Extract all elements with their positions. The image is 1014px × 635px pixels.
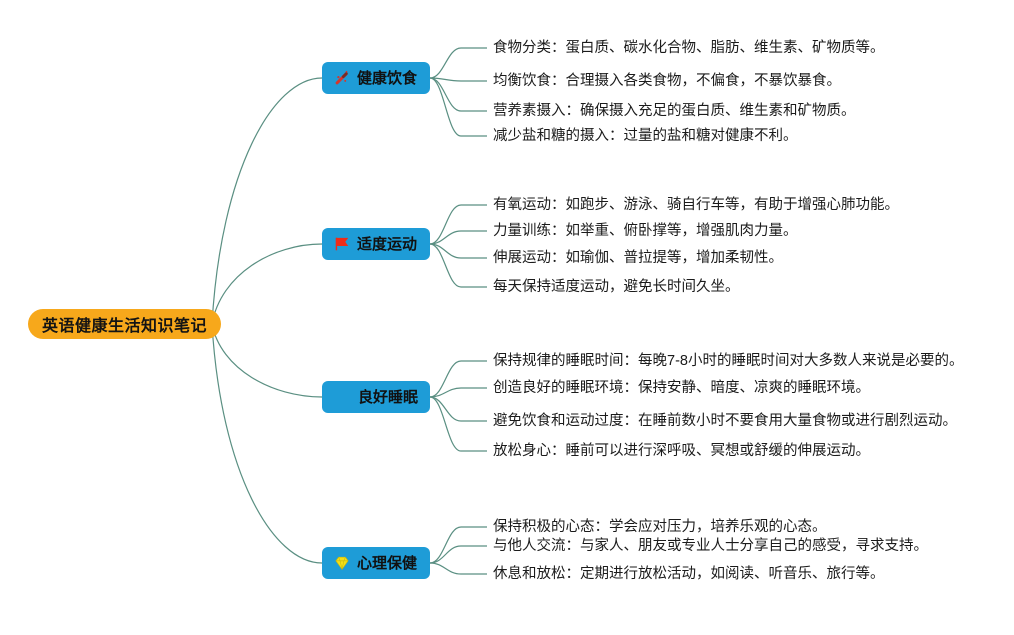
red-flag-icon (332, 234, 352, 254)
branch-node-label: 心理保健 (357, 556, 417, 571)
magic-wand-icon (332, 68, 352, 88)
branch-to-leaf-connector (430, 244, 487, 287)
leaf-node[interactable]: 休息和放松：定期进行放松活动，如阅读、听音乐、旅行等。 (493, 567, 885, 582)
diamond-gem-icon (332, 553, 352, 573)
branch-to-leaf-connector (430, 48, 487, 78)
leaf-node-label: 保持规律的睡眠时间：每晚7-8小时的睡眠时间对大多数人来说是必要的。 (493, 353, 963, 369)
branch-node-label: 健康饮食 (357, 71, 417, 86)
leaf-node-label: 减少盐和糖的摄入：过量的盐和糖对健康不利。 (493, 128, 798, 144)
branch-to-leaf-connector (430, 397, 487, 421)
branch-to-leaf-connector (430, 205, 487, 244)
leaf-node[interactable]: 每天保持适度运动，避免长时间久坐。 (493, 280, 740, 295)
branch-to-leaf-connector (430, 231, 487, 244)
leaf-node-label: 力量训练：如举重、俯卧撑等，增强肌肉力量。 (493, 223, 798, 239)
leaf-node[interactable]: 伸展运动：如瑜伽、普拉提等，增加柔韧性。 (493, 251, 783, 266)
leaf-node-label: 避免饮食和运动过度：在睡前数小时不要食用大量食物或进行剧烈运动。 (493, 413, 957, 429)
branch-to-leaf-connector (430, 397, 487, 451)
leaf-node-label: 保持积极的心态：学会应对压力，培养乐观的心态。 (493, 519, 827, 535)
mindmap-canvas: 英语健康生活知识笔记 健康饮食 适度运动 良好睡眠 (0, 0, 1014, 635)
leaf-node[interactable]: 保持规律的睡眠时间：每晚7-8小时的睡眠时间对大多数人来说是必要的。 (493, 354, 963, 369)
root-to-branch-connector (212, 324, 322, 563)
leaf-node-label: 有氧运动：如跑步、游泳、骑自行车等，有助于增强心肺功能。 (493, 197, 899, 213)
branch-node-healthy-diet[interactable]: 健康饮食 (322, 62, 430, 94)
root-to-branch-connector (212, 324, 322, 397)
leaf-node-label: 每天保持适度运动，避免长时间久坐。 (493, 279, 740, 295)
branch-node-label: 良好睡眠 (358, 390, 418, 405)
leaf-node[interactable]: 保持积极的心态：学会应对压力，培养乐观的心态。 (493, 520, 827, 535)
leaf-node[interactable]: 均衡饮食：合理摄入各类食物，不偏食，不暴饮暴食。 (493, 74, 841, 89)
branch-to-leaf-connector (430, 563, 487, 574)
leaf-node-label: 创造良好的睡眠环境：保持安静、暗度、凉爽的睡眠环境。 (493, 380, 870, 396)
leaf-node[interactable]: 与他人交流：与家人、朋友或专业人士分享自己的感受，寻求支持。 (493, 539, 928, 554)
root-node-label: 英语健康生活知识笔记 (42, 312, 207, 336)
leaf-node[interactable]: 减少盐和糖的摄入：过量的盐和糖对健康不利。 (493, 129, 798, 144)
leaf-node-label: 营养素摄入：确保摄入充足的蛋白质、维生素和矿物质。 (493, 103, 856, 119)
leaf-node-label: 均衡饮食：合理摄入各类食物，不偏食，不暴饮暴食。 (493, 73, 841, 89)
branch-to-leaf-connector (430, 388, 487, 397)
leaf-node[interactable]: 创造良好的睡眠环境：保持安静、暗度、凉爽的睡眠环境。 (493, 381, 870, 396)
leaf-node-label: 食物分类：蛋白质、碳水化合物、脂肪、维生素、矿物质等。 (493, 40, 885, 56)
branch-to-leaf-connector (430, 78, 487, 111)
leaf-node[interactable]: 有氧运动：如跑步、游泳、骑自行车等，有助于增强心肺功能。 (493, 198, 899, 213)
branch-node-mental-health[interactable]: 心理保健 (322, 547, 430, 579)
leaf-node[interactable]: 避免饮食和运动过度：在睡前数小时不要食用大量食物或进行剧烈运动。 (493, 414, 957, 429)
branch-to-leaf-connector (430, 78, 487, 136)
branch-to-leaf-connector (430, 78, 487, 81)
branch-to-leaf-connector (430, 244, 487, 258)
leaf-node[interactable]: 放松身心：睡前可以进行深呼吸、冥想或舒缓的伸展运动。 (493, 444, 870, 459)
root-node[interactable]: 英语健康生活知识笔记 (28, 309, 221, 339)
leaf-node-label: 休息和放松：定期进行放松活动，如阅读、听音乐、旅行等。 (493, 566, 885, 582)
branch-node-good-sleep[interactable]: 良好睡眠 (322, 381, 430, 413)
root-to-branch-connector (212, 244, 322, 324)
branch-node-label: 适度运动 (357, 237, 417, 252)
leaf-node-label: 与他人交流：与家人、朋友或专业人士分享自己的感受，寻求支持。 (493, 538, 928, 554)
leaf-node[interactable]: 营养素摄入：确保摄入充足的蛋白质、维生素和矿物质。 (493, 104, 856, 119)
root-to-branch-connector (212, 78, 322, 324)
leaf-node-label: 放松身心：睡前可以进行深呼吸、冥想或舒缓的伸展运动。 (493, 443, 870, 459)
branch-to-leaf-connector (430, 546, 487, 563)
leaf-node[interactable]: 食物分类：蛋白质、碳水化合物、脂肪、维生素、矿物质等。 (493, 41, 885, 56)
leaf-node-label: 伸展运动：如瑜伽、普拉提等，增加柔韧性。 (493, 250, 783, 266)
branch-to-leaf-connector (430, 527, 487, 563)
branch-to-leaf-connector (430, 361, 487, 397)
branch-node-moderate-exercise[interactable]: 适度运动 (322, 228, 430, 260)
leaf-node[interactable]: 力量训练：如举重、俯卧撑等，增强肌肉力量。 (493, 224, 798, 239)
